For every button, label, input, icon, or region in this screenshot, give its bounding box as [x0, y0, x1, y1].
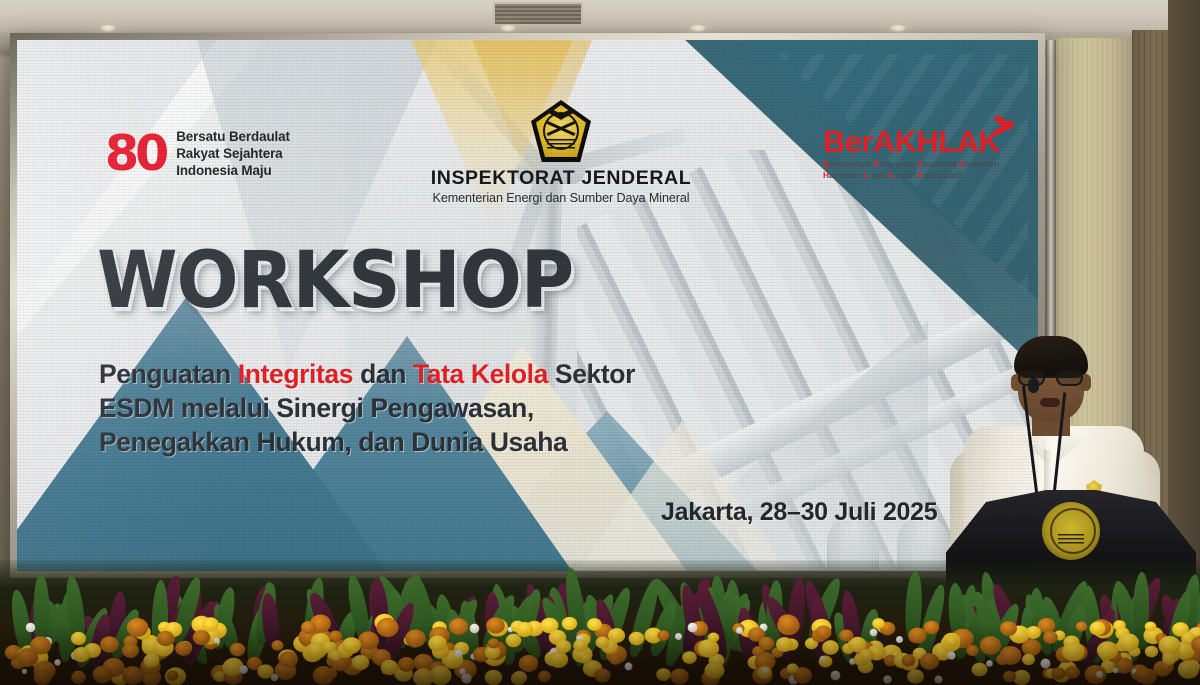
screenshot-stage: 80 Bersatu Berdaulat Rakyat Sejahtera In… [0, 0, 1200, 685]
logo-80-line2: Rakyat Sejahtera [176, 145, 290, 162]
floral-shadow [0, 625, 1200, 685]
berakhlak-ber: Ber [823, 124, 873, 159]
berakhlak-akhlak: AKHLAK [873, 124, 1000, 159]
event-subtitle: Penguatan Integritas dan Tata Kelola Sek… [99, 358, 779, 460]
berakhlak-values-line2: Harmonis Loyal Adaptif Kolaboratif [823, 170, 1033, 181]
subtitle-highlight-integritas: Integritas [238, 359, 353, 389]
ceiling-downlight [100, 25, 116, 32]
berakhlak-arrow-icon [995, 112, 1021, 138]
esdm-ministry-emblem-icon [531, 100, 591, 162]
itjen-title: INSPEKTORAT JENDERAL [421, 167, 701, 190]
ceiling-downlight [500, 25, 516, 32]
ceiling-air-vent-icon [493, 2, 583, 26]
event-subtitle-line2: ESDM melalui Sinergi Pengawasan, [99, 392, 779, 426]
led-screen-frame: 80 Bersatu Berdaulat Rakyat Sejahtera In… [10, 33, 1045, 578]
floral-arrangement [0, 560, 1200, 685]
berakhlak-wordmark: BerAKHLAK [823, 126, 1033, 157]
page-title: WORKSHOP [97, 242, 573, 320]
berakhlak-values: Berorientasi Pelayanan Akuntabel Kompete… [823, 159, 1033, 181]
berakhlak-values-line1: Berorientasi Pelayanan Akuntabel Kompete… [823, 159, 1033, 170]
inspektorat-jenderal-block: INSPEKTORAT JENDERAL Kementerian Energi … [421, 100, 701, 205]
podium-esdm-emblem-icon [1042, 502, 1100, 560]
led-screen: 80 Bersatu Berdaulat Rakyat Sejahtera In… [17, 40, 1038, 571]
ceiling-downlight [890, 25, 906, 32]
event-subtitle-line1: Penguatan Integritas dan Tata Kelola Sek… [99, 358, 779, 392]
ceiling-downlight [690, 25, 706, 32]
logo-80-mark: 80 [105, 129, 165, 178]
subtitle-highlight-tata-kelola: Tata Kelola [413, 359, 548, 389]
logo-80-line1: Bersatu Berdaulat [176, 128, 290, 145]
logo-80-indonesia-maju: 80 Bersatu Berdaulat Rakyat Sejahtera In… [105, 128, 290, 179]
logo-80-line3: Indonesia Maju [176, 162, 290, 179]
speaker-mouth [1040, 398, 1060, 407]
event-subtitle-line3: Penegakkan Hukum, dan Dunia Usaha [99, 426, 779, 460]
berakhlak-logo: BerAKHLAK Berorientasi Pelayanan Akuntab… [823, 126, 1033, 181]
backdrop-content: 80 Bersatu Berdaulat Rakyat Sejahtera In… [17, 40, 1038, 571]
logo-80-tagline: Bersatu Berdaulat Rakyat Sejahtera Indon… [176, 128, 290, 179]
itjen-subtitle: Kementerian Energi dan Sumber Daya Miner… [421, 191, 701, 205]
event-date-location: Jakarta, 28–30 Juli 2025 [661, 498, 937, 527]
